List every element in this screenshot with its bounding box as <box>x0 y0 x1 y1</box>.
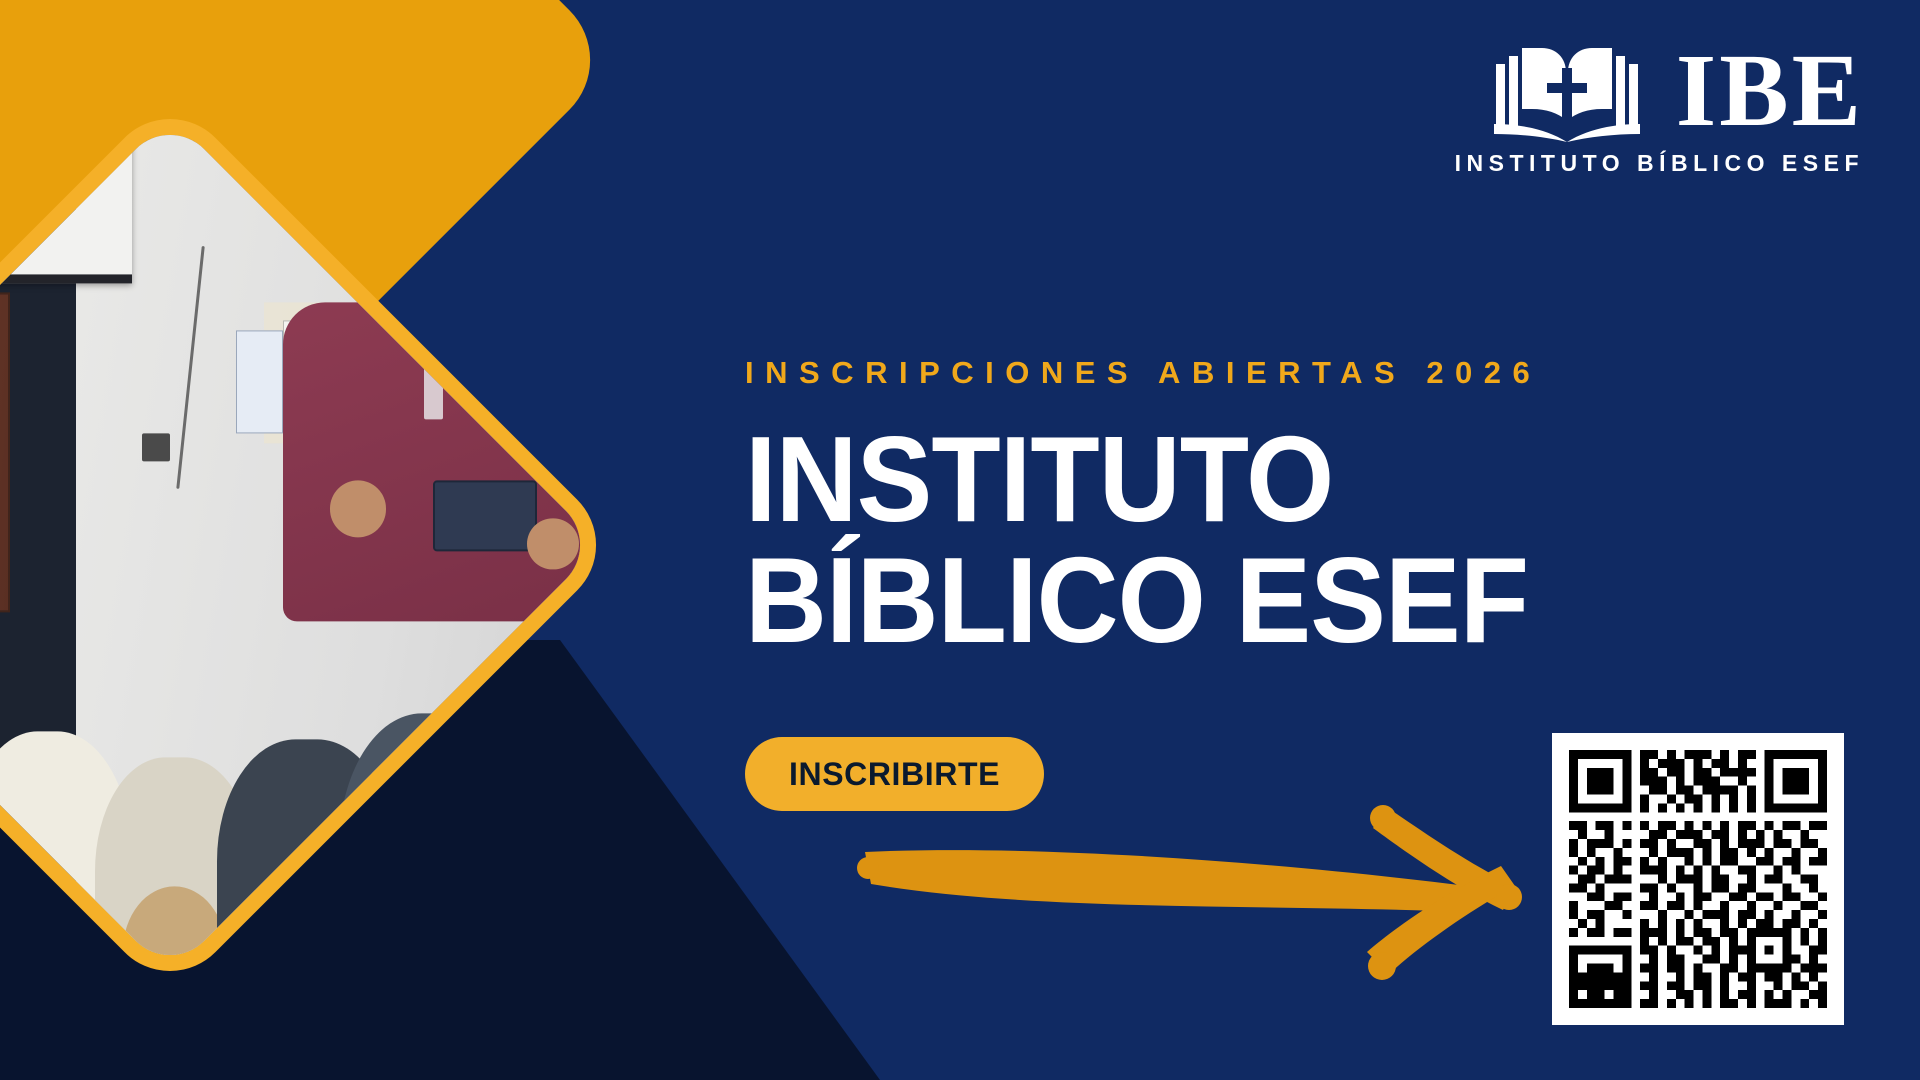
wooden-door <box>0 293 10 613</box>
curved-right-arrow-icon <box>855 800 1555 1000</box>
headline-line-2: BÍBLICO ESEF <box>745 540 1675 661</box>
copy-block: INSCRIPCIONES ABIERTAS 2026 INSTITUTO BÍ… <box>745 355 1745 661</box>
ibe-logo: IBE INSTITUTO BÍBLICO ESEF <box>1455 38 1864 177</box>
headline-line-1: INSTITUTO <box>745 419 1675 540</box>
eyebrow-text: INSCRIPCIONES ABIERTAS 2026 <box>745 355 1745 391</box>
logo-tagline: INSTITUTO BÍBLICO ESEF <box>1455 150 1864 177</box>
logo-wordmark: IBE <box>1676 43 1864 139</box>
qr-code-icon[interactable] <box>1552 733 1844 1025</box>
page-title: INSTITUTO BÍBLICO ESEF <box>745 419 1675 661</box>
poster-canvas: IBE INSTITUTO BÍBLICO ESEF INSCRIPCIONES… <box>0 0 1920 1080</box>
open-book-with-cross-icon <box>1492 38 1642 144</box>
instructor-tablet <box>433 481 536 551</box>
